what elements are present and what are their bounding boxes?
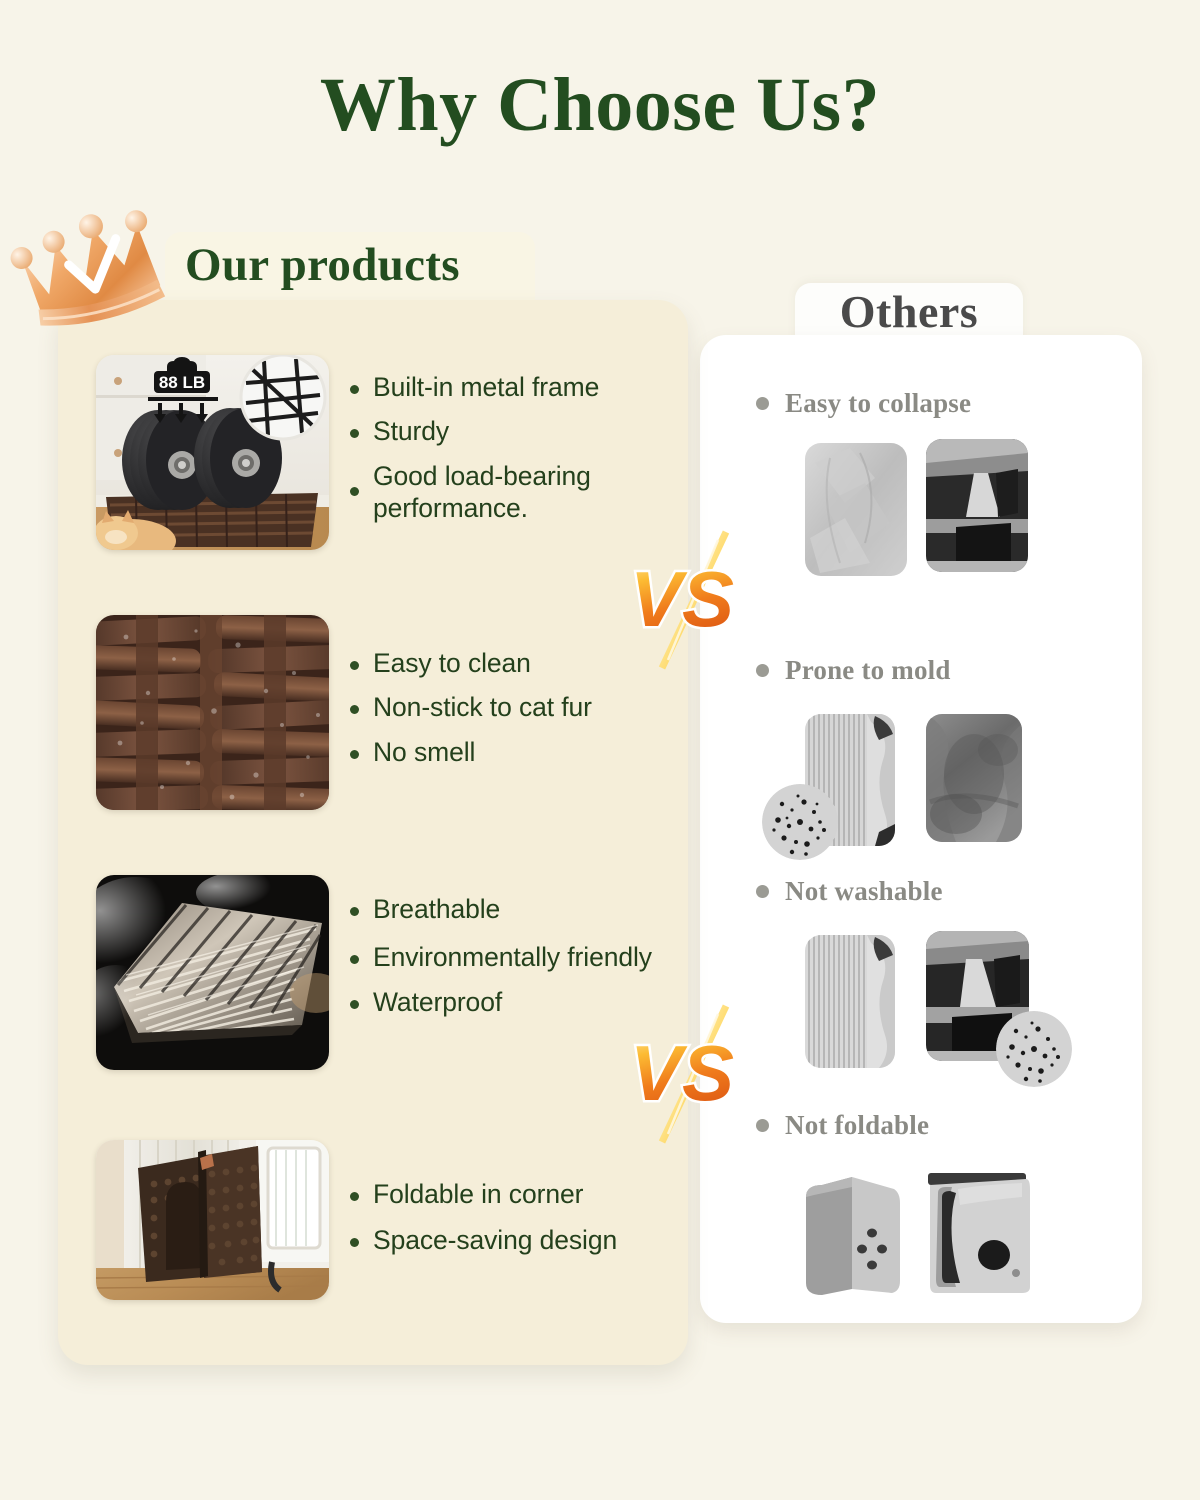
others-row-label: Not washable xyxy=(785,876,943,907)
image-collapsed-fabric-box xyxy=(805,443,907,576)
image-rigid-gray-box-corner xyxy=(800,1169,900,1302)
others-row-header: Prone to mold xyxy=(756,655,1142,686)
others-row-images xyxy=(700,1155,1142,1330)
ours-row-foldable: Foldable in corner Space-saving design xyxy=(58,1140,688,1340)
others-row-header: Easy to collapse xyxy=(756,388,1142,419)
others-row-images xyxy=(700,921,1142,1101)
image-weight-plates-on-wicker-basket: 88 LB xyxy=(96,355,329,550)
tab-ours-label: Our products xyxy=(185,232,535,304)
image-rigid-box-with-hole xyxy=(922,1163,1032,1298)
others-row-header: Not foldable xyxy=(756,1110,1142,1141)
others-row-label: Prone to mold xyxy=(785,655,951,686)
vs-badge-upper: VS xyxy=(622,518,742,678)
list-item: Space-saving design xyxy=(350,1224,680,1256)
bullet-dot-icon xyxy=(350,705,359,714)
others-row-easy-to-collapse: Easy to collapse xyxy=(700,388,1142,608)
list-item: Environmentally friendly xyxy=(350,941,680,973)
bullet-dot-icon xyxy=(756,1119,769,1132)
bullet-dot-icon xyxy=(350,1000,359,1009)
bullet-text: Sturdy xyxy=(373,415,449,447)
bullet-dot-icon xyxy=(350,661,359,670)
bullet-text: Foldable in corner xyxy=(373,1178,583,1210)
bullet-text: No smell xyxy=(373,736,475,768)
bullet-text: Easy to clean xyxy=(373,647,531,679)
image-mold-spots-closeup xyxy=(762,784,838,860)
bullet-text: Non-stick to cat fur xyxy=(373,691,592,723)
list-item: Non-stick to cat fur xyxy=(350,691,680,723)
list-item: Breathable xyxy=(350,893,680,925)
others-row-images xyxy=(700,700,1142,875)
bullet-dot-icon xyxy=(756,664,769,677)
list-item: No smell xyxy=(350,736,680,768)
ours-row-easy-to-clean: Easy to clean Non-stick to cat fur No sm… xyxy=(58,615,688,865)
others-row-label: Easy to collapse xyxy=(785,388,971,419)
list-item: Built-in metal frame xyxy=(350,371,680,403)
image-collapsed-black-litter-box xyxy=(926,439,1028,572)
others-row-not-washable: Not washable xyxy=(700,876,1142,1101)
others-row-not-foldable: Not foldable xyxy=(700,1110,1142,1330)
image-wet-wicker-weave-texture xyxy=(96,615,329,810)
others-row-header: Not washable xyxy=(756,876,1142,907)
bullet-list-4: Foldable in corner Space-saving design xyxy=(350,1178,680,1269)
bullet-text: Waterproof xyxy=(373,986,502,1018)
bullet-dot-icon xyxy=(350,487,359,496)
svg-text:88 LB: 88 LB xyxy=(159,373,205,392)
others-row-images xyxy=(700,433,1142,608)
ours-row-metal-frame: 88 LB xyxy=(58,355,688,605)
bullet-dot-icon xyxy=(350,750,359,759)
image-folded-wicker-litter-box-in-corner xyxy=(96,1140,329,1300)
bullet-text: Breathable xyxy=(373,893,500,925)
vs-badge-lower: VS xyxy=(622,992,742,1152)
list-item: Sturdy xyxy=(350,415,680,447)
bullet-text: Space-saving design xyxy=(373,1224,617,1256)
card-ours: 88 LB xyxy=(58,300,688,1365)
bullet-dot-icon xyxy=(756,397,769,410)
bullet-text: Built-in metal frame xyxy=(373,371,599,403)
crown-icon xyxy=(6,198,172,328)
others-row-prone-to-mold: Prone to mold xyxy=(700,655,1142,875)
others-row-label: Not foldable xyxy=(785,1110,929,1141)
page-title: Why Choose Us? xyxy=(0,62,1200,149)
bullet-dot-icon xyxy=(350,955,359,964)
image-ribbed-fabric-panel xyxy=(805,935,895,1068)
list-item: Good load-bearing performance. xyxy=(350,460,680,525)
image-breathable-woven-lid-with-mist xyxy=(96,875,329,1070)
bullet-list-1: Built-in metal frame Sturdy Good load-be… xyxy=(350,371,680,536)
bullet-text: Environmentally friendly xyxy=(373,941,652,973)
list-item: Foldable in corner xyxy=(350,1178,680,1210)
ours-row-breathable: Breathable Environmentally friendly Wate… xyxy=(58,875,688,1125)
bullet-dot-icon xyxy=(350,1238,359,1247)
vs-label: VS xyxy=(630,1029,734,1117)
bullet-dot-icon xyxy=(756,885,769,898)
bullet-dot-icon xyxy=(350,907,359,916)
image-mold-spots-closeup xyxy=(996,1011,1072,1087)
vs-label: VS xyxy=(630,555,734,643)
bullet-text: Good load-bearing performance. xyxy=(373,460,680,525)
bullet-dot-icon xyxy=(350,1192,359,1201)
bullet-dot-icon xyxy=(350,385,359,394)
tab-ours: Our products xyxy=(165,232,535,304)
bullet-dot-icon xyxy=(350,429,359,438)
image-moldy-gray-surface xyxy=(926,714,1022,842)
